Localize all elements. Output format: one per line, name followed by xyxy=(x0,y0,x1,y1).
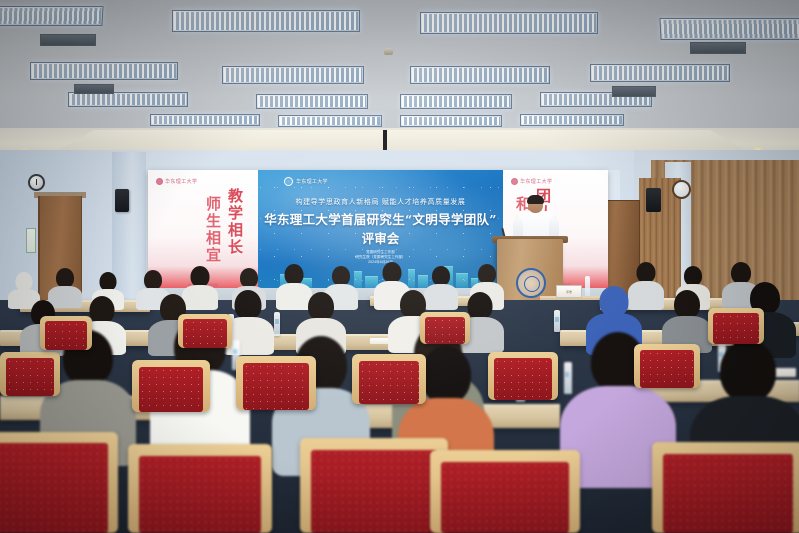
chair-back xyxy=(430,450,580,533)
person-head xyxy=(637,262,656,283)
screen-title-line1: 华东理工大学首届研究生“文明导学团队” xyxy=(262,212,499,228)
person-head xyxy=(600,286,629,316)
chair-cushion xyxy=(640,350,694,388)
person-head xyxy=(684,266,702,286)
presenter-hair xyxy=(527,195,544,204)
chair-cushion xyxy=(663,454,793,533)
banner-left-column1: 教学相长 xyxy=(225,188,246,256)
wall-speaker-icon xyxy=(646,188,661,212)
chair-cushion xyxy=(359,361,419,404)
chair-cushion xyxy=(183,319,227,348)
university-crest-icon xyxy=(516,268,546,298)
chair-back xyxy=(300,438,448,533)
ceiling-light xyxy=(410,66,550,84)
banner-right-logo-text: 华东理工大学 xyxy=(520,178,552,185)
chair-cushion xyxy=(311,450,437,533)
ceiling-light xyxy=(420,12,598,34)
person-head xyxy=(421,346,471,404)
ceiling-light xyxy=(520,114,624,126)
smoke-detector-icon xyxy=(384,48,393,55)
person-head xyxy=(285,264,304,285)
chair-back xyxy=(236,356,316,410)
screen-logo-text: 华东理工大学 xyxy=(296,178,328,185)
ceiling-vent xyxy=(690,42,746,54)
person-head xyxy=(144,270,162,290)
ceiling-light xyxy=(278,115,382,127)
ceiling-light xyxy=(659,18,799,40)
chair-cushion xyxy=(6,358,54,396)
screen-university-logo: 华东理工大学 xyxy=(284,177,328,186)
person-head xyxy=(308,292,334,321)
chair-cushion xyxy=(425,317,465,344)
person-head xyxy=(478,264,496,284)
person-head xyxy=(240,268,258,288)
person-head xyxy=(56,268,74,288)
chair-cushion xyxy=(243,363,309,410)
person-head xyxy=(191,266,210,287)
name-card: 评委 xyxy=(556,285,582,298)
ceiling-light xyxy=(172,10,360,32)
screen-tagline: 构建导学思政育人新格局 赋能人才培养高质量发展 xyxy=(258,197,503,207)
chair-back xyxy=(0,352,60,396)
university-logo-icon xyxy=(156,178,163,185)
chair-back xyxy=(420,312,470,344)
person-head xyxy=(731,262,751,284)
chair-cushion xyxy=(0,443,108,533)
person-head xyxy=(332,266,350,286)
ceiling-light xyxy=(400,94,512,109)
ceiling-light xyxy=(68,92,188,107)
ceiling-vent xyxy=(612,86,656,97)
banner-left-logo: 华东理工大学 xyxy=(156,178,197,185)
ceiling-light xyxy=(400,115,502,127)
person-head xyxy=(468,292,493,320)
banner-left-column2: 师生相宜 xyxy=(203,196,224,264)
chair-back xyxy=(132,360,210,412)
ceiling-vent xyxy=(74,84,114,94)
wall-speaker-icon xyxy=(115,189,129,212)
chair-cushion xyxy=(139,456,261,533)
ceiling-light xyxy=(0,6,104,26)
person-head xyxy=(90,296,115,324)
university-logo-icon xyxy=(284,177,293,186)
ceiling-light xyxy=(222,66,364,84)
chair-cushion xyxy=(494,358,552,400)
person-head xyxy=(235,290,262,320)
chair-back xyxy=(488,352,558,400)
wall-notice xyxy=(26,228,36,253)
chair-back xyxy=(178,314,232,348)
banner-right-logo: 华东理工大学 xyxy=(511,178,552,185)
person-head xyxy=(720,340,776,402)
water-bottle xyxy=(554,310,560,332)
person-head xyxy=(383,262,402,283)
ceiling-vent xyxy=(40,34,96,46)
chair-back xyxy=(708,308,764,344)
ceiling-light xyxy=(590,64,730,82)
chair-back xyxy=(0,432,118,533)
chair-cushion xyxy=(139,367,203,412)
chair-cushion xyxy=(713,313,759,344)
university-logo-icon xyxy=(511,178,518,185)
wall-clock-icon xyxy=(28,174,45,191)
chair-back xyxy=(128,444,272,533)
banner-left-logo-text: 华东理工大学 xyxy=(165,178,197,185)
chair-back xyxy=(352,354,426,404)
chair-back xyxy=(634,344,700,388)
chair-back xyxy=(40,316,92,350)
screen-title-line2: 评审会 xyxy=(258,228,503,247)
ceiling-light xyxy=(256,94,368,109)
conference-hall-photo: 华东理工大学 教学相长 师生相宜 华东理工大学研究生院 华东理工大学 构建导学思… xyxy=(0,0,799,533)
ceiling-light xyxy=(150,114,260,126)
person-head xyxy=(432,266,450,286)
chair-back xyxy=(652,442,799,533)
water-bottle xyxy=(274,312,280,336)
ceiling-light xyxy=(30,62,178,80)
chair-cushion xyxy=(45,321,87,350)
wall-clock-icon xyxy=(672,180,691,199)
person-head xyxy=(674,290,700,319)
chair-cushion xyxy=(441,462,569,533)
